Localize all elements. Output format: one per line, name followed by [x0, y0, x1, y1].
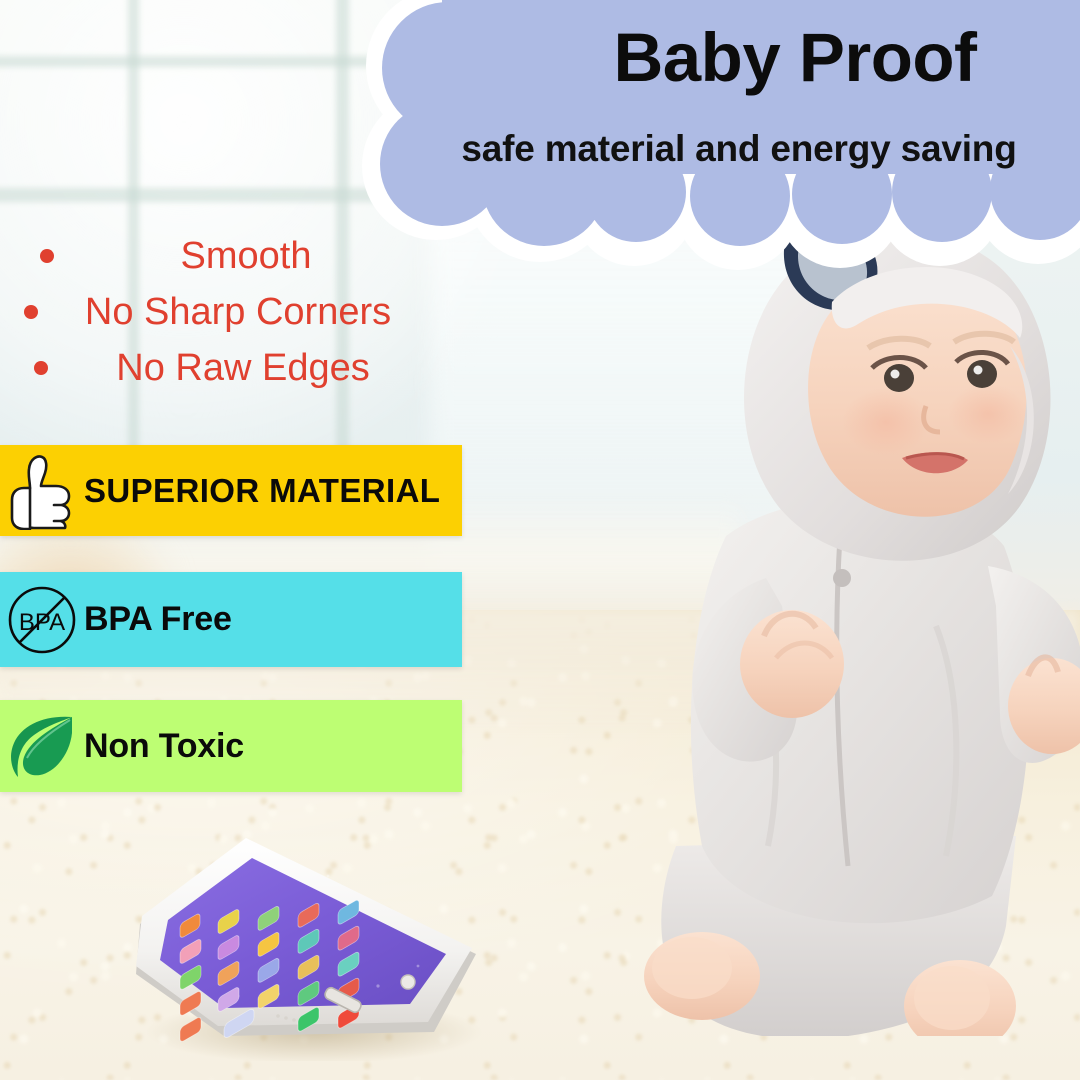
baby-hand-left [740, 610, 844, 718]
window-mullion-horizontal [0, 188, 410, 202]
window-mullion-horizontal [0, 56, 410, 67]
page-subtitle: safe material and energy saving [404, 128, 1074, 170]
feature-bullet-list: Smooth No Sharp Corners No Raw Edges [18, 228, 438, 396]
leaf-icon [0, 711, 84, 781]
product-feature-graphic: Baby Proof safe material and energy savi… [0, 0, 1080, 1080]
feature-badge-label: Non Toxic [84, 727, 244, 766]
bullet-dot-icon [40, 249, 54, 263]
feature-badge-non-toxic: Non Toxic [0, 700, 462, 792]
bullet-dot-icon [24, 305, 38, 319]
feature-badge-label: BPA Free [84, 600, 232, 639]
toy-smartphone-product [128, 836, 484, 1061]
page-title: Baby Proof [560, 22, 1030, 94]
bullet-dot-icon [34, 361, 48, 375]
list-item-label: No Sharp Corners [38, 291, 438, 334]
list-item-label: Smooth [54, 235, 438, 278]
bpa-icon-text: BPA [19, 609, 65, 636]
bpa-free-icon: BPA [0, 582, 84, 658]
list-item: No Raw Edges [18, 340, 438, 396]
feature-badge-bpa-free: BPA BPA Free [0, 572, 462, 667]
thumbs-up-icon [0, 452, 84, 530]
feature-badge-superior-material: SUPERIOR MATERIAL [0, 445, 462, 536]
list-item: No Sharp Corners [18, 284, 438, 340]
feature-badge-label: SUPERIOR MATERIAL [84, 472, 440, 510]
list-item-label: No Raw Edges [48, 347, 438, 390]
baby-photo [596, 206, 1080, 1036]
list-item: Smooth [18, 228, 438, 284]
phone-button [401, 975, 415, 989]
